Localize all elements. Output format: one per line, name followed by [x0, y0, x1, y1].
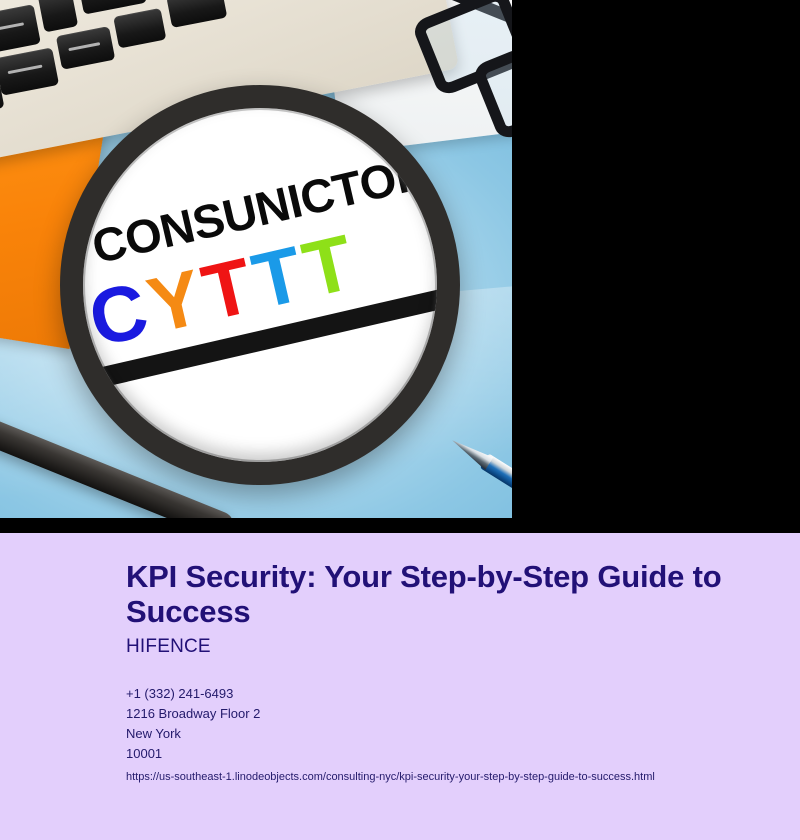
keyboard-key	[0, 47, 59, 95]
keyboard-key	[113, 8, 166, 49]
page-title: KPI Security: Your Step-by-Step Guide to…	[126, 560, 736, 629]
contact-phone[interactable]: +1 (332) 241-6493	[126, 684, 740, 704]
hero-banner: CONSUNICTON CYTTT	[0, 0, 800, 533]
magnifier-lens: CONSUNICTON CYTTT	[60, 85, 460, 485]
keyboard-key	[166, 0, 227, 28]
brand-name: HIFENCE	[126, 636, 740, 658]
keyboard-key	[38, 0, 79, 32]
keyboard-key	[56, 26, 115, 70]
contact-zip: 10001	[126, 744, 740, 764]
info-content: KPI Security: Your Step-by-Step Guide to…	[0, 533, 800, 785]
contact-address-line: 1216 Broadway Floor 2	[126, 704, 740, 724]
magnifier-contents: CONSUNICTON CYTTT	[83, 108, 437, 462]
article-hero-photo: CONSUNICTON CYTTT	[0, 0, 512, 518]
contact-block: +1 (332) 241-6493 1216 Broadway Floor 2 …	[126, 684, 740, 785]
contact-city: New York	[126, 724, 740, 744]
keyboard-key	[0, 4, 41, 55]
article-info-panel: KPI Security: Your Step-by-Step Guide to…	[0, 533, 800, 840]
page-url[interactable]: https://us-southeast-1.linodeobjects.com…	[126, 769, 740, 785]
